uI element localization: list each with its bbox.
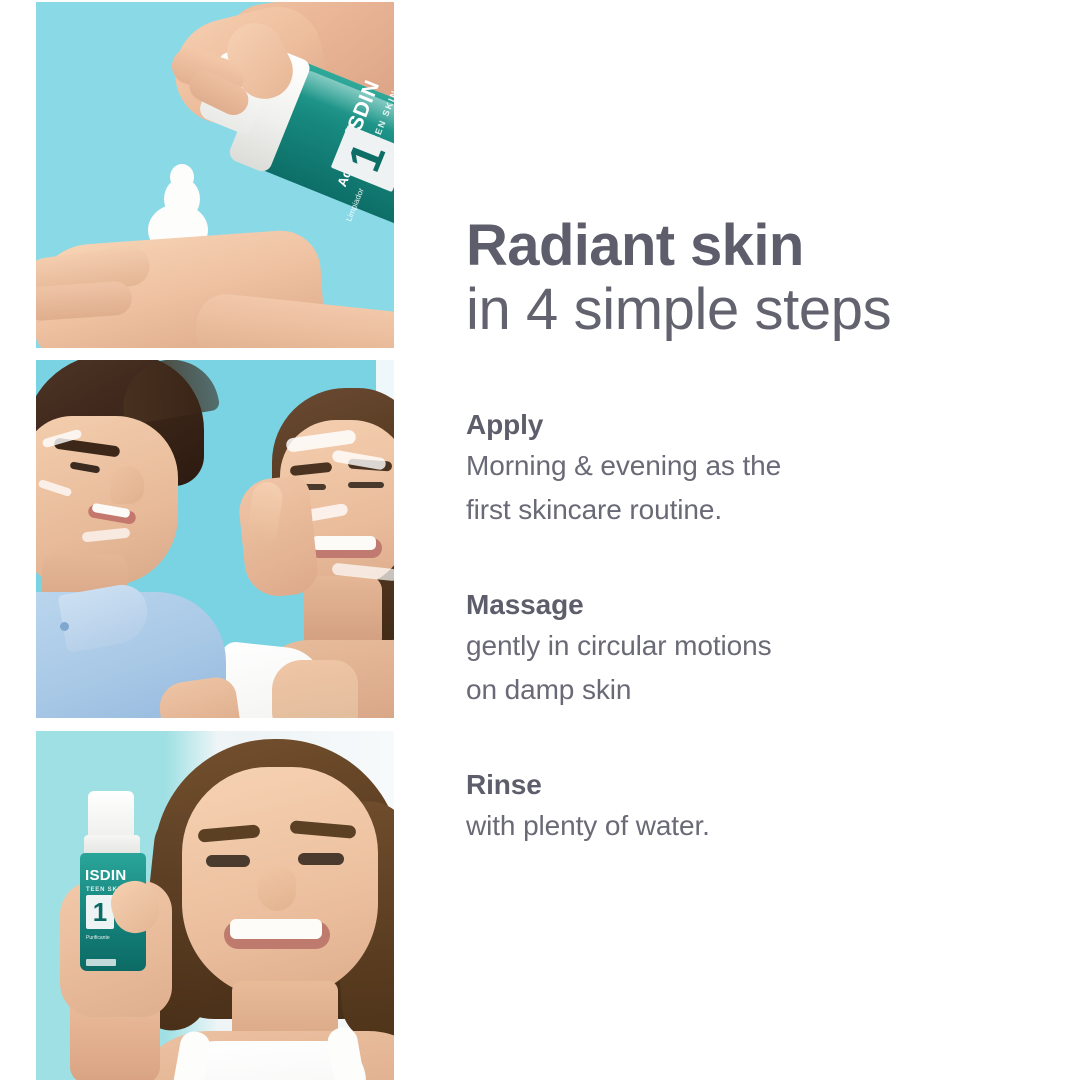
bottle-brand-text: ISDIN bbox=[85, 867, 127, 884]
step-title: Rinse bbox=[466, 766, 1026, 804]
step-item-massage: Massage gently in circular motions on da… bbox=[466, 586, 1026, 712]
step-title: Apply bbox=[466, 406, 1026, 444]
photo-column: ISDIN TEEN SKIN Acniben 1 Limpiador bbox=[36, 0, 394, 1080]
man-shirt-button bbox=[60, 622, 69, 631]
bottle-pump bbox=[88, 791, 134, 841]
photo-panel-couple-massaging bbox=[36, 360, 394, 718]
headline-block: Radiant skin in 4 simple steps bbox=[466, 216, 1036, 346]
model-eye-left bbox=[206, 855, 250, 867]
step-item-rinse: Rinse with plenty of water. bbox=[466, 766, 1026, 848]
headline-primary: Radiant skin bbox=[466, 216, 1036, 275]
man-nose bbox=[110, 466, 144, 504]
step-description-line-1: with plenty of water. bbox=[466, 804, 1026, 848]
bottle-barcode bbox=[86, 959, 116, 966]
model-eye-right bbox=[298, 853, 344, 865]
photo-panel-dispensing-foam: ISDIN TEEN SKIN Acniben 1 Limpiador bbox=[36, 2, 394, 348]
model-teeth bbox=[230, 919, 322, 939]
step-description: Morning & evening as the first skincare … bbox=[466, 444, 1026, 532]
step-description-line-1: gently in circular motions bbox=[466, 624, 1026, 668]
bottle-descriptor: Purificante bbox=[86, 935, 138, 943]
promo-graphic-root: ISDIN TEEN SKIN Acniben 1 Limpiador bbox=[0, 0, 1080, 1080]
headline-secondary: in 4 simple steps bbox=[466, 275, 1036, 346]
step-description: gently in circular motions on damp skin bbox=[466, 624, 1026, 712]
step-item-apply: Apply Morning & evening as the first ski… bbox=[466, 406, 1026, 532]
woman-teeth bbox=[312, 536, 376, 550]
step-description-line-2: first skincare routine. bbox=[466, 488, 1026, 532]
model-nose bbox=[258, 867, 296, 911]
bottle-step-number: 1 bbox=[86, 895, 114, 929]
text-column: Radiant skin in 4 simple steps Apply Mor… bbox=[466, 0, 1046, 1080]
woman-eye-right bbox=[348, 482, 384, 488]
photo-panel-woman-with-product: ISDIN TEEN SKIN 1 Purificante bbox=[36, 731, 394, 1080]
step-title: Massage bbox=[466, 586, 1026, 624]
woman-hand-lower bbox=[272, 660, 358, 718]
step-description: with plenty of water. bbox=[466, 804, 1026, 848]
step-description-line-2: on damp skin bbox=[466, 668, 1026, 712]
step-description-line-1: Morning & evening as the bbox=[466, 444, 1026, 488]
